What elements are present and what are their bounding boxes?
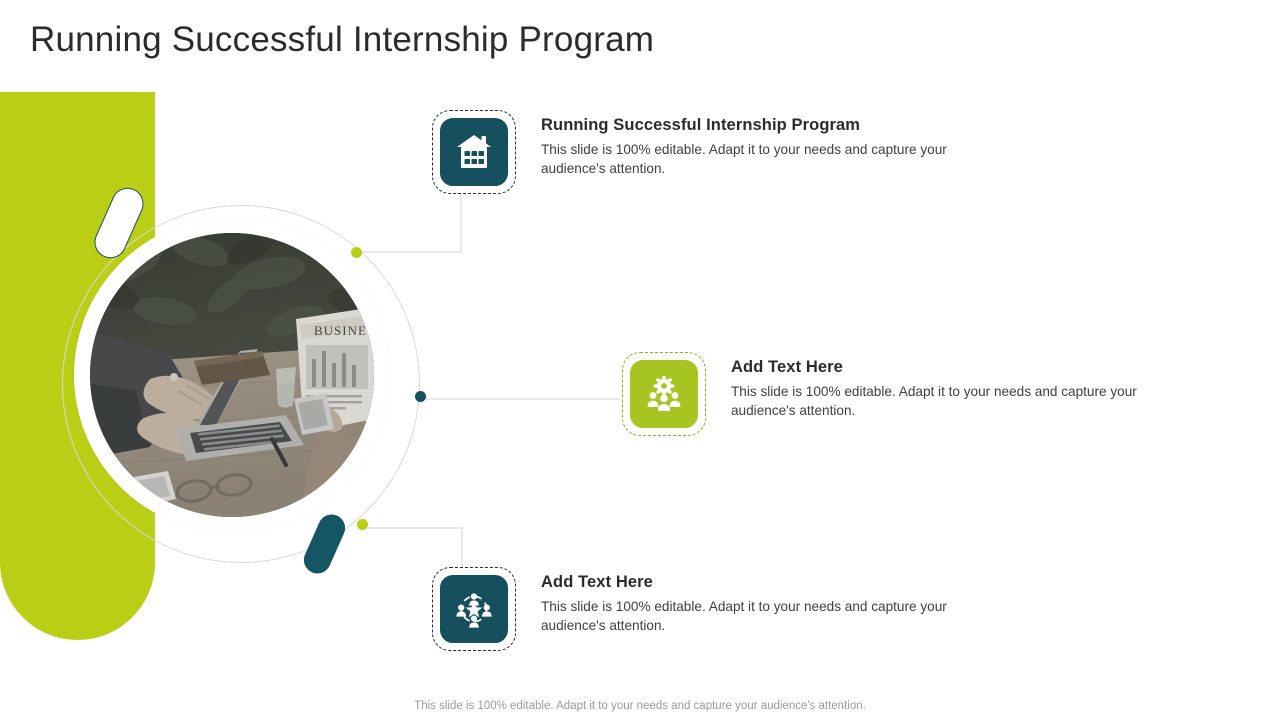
item-body-3: This slide is 100% editable. Adapt it to… [541, 597, 1001, 635]
photo-white-disc: GL- BUSINE [74, 217, 390, 533]
item-heading-1: Running Successful Internship Program [541, 116, 1001, 135]
content-text-3: Add Text Here This slide is 100% editabl… [541, 567, 1001, 635]
item-heading-2: Add Text Here [731, 358, 1191, 377]
school-building-icon [439, 117, 509, 187]
desk-workspace-photo: GL- BUSINE [90, 233, 374, 517]
icon-frame-1[interactable] [432, 110, 516, 194]
content-row-3: Add Text Here This slide is 100% editabl… [432, 567, 1001, 651]
content-row-2: Add Text Here This slide is 100% editabl… [622, 352, 1191, 436]
slide-footer-note: This slide is 100% editable. Adapt it to… [0, 700, 1280, 712]
slide-canvas: Running Successful Internship Program [0, 0, 1280, 720]
connector-dot-3 [357, 519, 368, 530]
item-body-1: This slide is 100% editable. Adapt it to… [541, 140, 1001, 178]
content-text-1: Running Successful Internship Program Th… [541, 110, 1001, 178]
item-heading-3: Add Text Here [541, 573, 1001, 592]
item-body-2: This slide is 100% editable. Adapt it to… [731, 382, 1191, 420]
icon-frame-3[interactable] [432, 567, 516, 651]
page-title: Running Successful Internship Program [30, 20, 654, 60]
connector-line-2 [420, 396, 620, 402]
icon-frame-2[interactable] [622, 352, 706, 436]
team-network-star-icon [439, 574, 509, 644]
content-text-2: Add Text Here This slide is 100% editabl… [731, 352, 1191, 420]
content-row-1: Running Successful Internship Program Th… [432, 110, 1001, 194]
team-gear-icon [629, 359, 699, 429]
connector-dot-2 [415, 391, 426, 402]
connector-dot-1 [351, 247, 362, 258]
circular-photo-cluster: GL- BUSINE [62, 205, 420, 563]
